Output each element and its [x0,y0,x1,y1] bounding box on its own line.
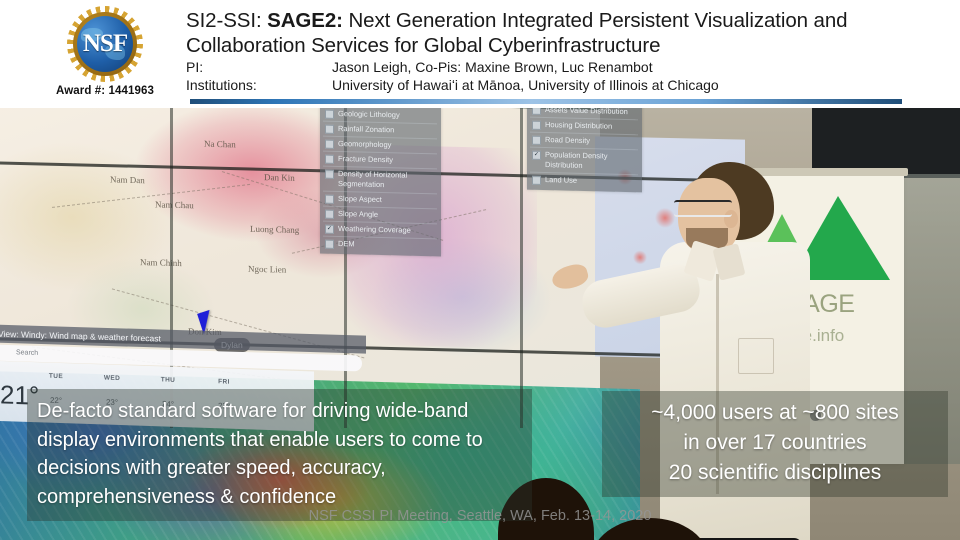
forecast-day: TUE [36,372,76,380]
checkbox-icon[interactable] [325,169,334,178]
footer-meeting-note: NSF CSSI PI Meeting, Seattle, WA, Feb. 1… [0,508,960,524]
presenter-glasses-icon [674,200,732,217]
layer-label: Geologic Lithology [338,109,400,121]
pi-row: PI: Jason Leigh, Co-Pis: Maxine Brown, L… [186,59,956,76]
shared-cursor-dylan[interactable]: Dylan [200,310,222,332]
layer-label: Rainfall Zonation [338,124,394,135]
slide-header: NSF Award #: 1441963 SI2-SSI: SAGE2: Nex… [0,0,960,108]
checkbox-icon-checked[interactable] [532,150,541,159]
layer-label: Density of Horizontal Segmentation [338,169,435,191]
forecast-day: FRI [204,378,244,386]
layer-label: Slope Aspect [338,194,382,205]
checkbox-icon[interactable] [532,135,541,144]
institutions-value: University of Hawaiʻi at Mānoa, Universi… [332,77,956,94]
page-title: SI2-SSI: SAGE2: Next Generation Integrat… [186,8,956,58]
list-item[interactable]: DEM [323,236,437,254]
map-place-label: Nam Dan [110,174,145,185]
slide-canvas: NSF Award #: 1441963 SI2-SSI: SAGE2: Nex… [0,0,960,540]
list-item[interactable]: Population Density Distribution [530,147,638,175]
map-place-label: Luong Chang [250,224,299,235]
layer-label: Slope Angle [338,209,378,220]
checkbox-icon[interactable] [325,239,334,248]
checkbox-icon[interactable] [532,108,541,114]
list-item[interactable]: Land Use [530,172,638,190]
header-text-block: SI2-SSI: SAGE2: Next Generation Integrat… [186,8,956,94]
checkbox-icon[interactable] [325,154,334,163]
checkbox-icon[interactable] [325,194,334,203]
header-divider [190,99,902,104]
presenter-shirt-pocket [738,338,774,374]
map-place-label: Nam Chinh [140,257,182,268]
checkbox-icon[interactable] [325,139,334,148]
caption-description: De-facto standard software for driving w… [27,389,532,521]
layer-label: Housing Distribution [545,120,612,132]
checkbox-icon[interactable] [325,109,334,118]
display-bezel-seam-vertical [520,108,523,428]
layer-label: Population Density Distribution [545,150,636,172]
title-project-name: SAGE2: [267,9,343,32]
list-item[interactable]: Density of Horizontal Segmentation [323,166,437,194]
stats-line-disciplines: 20 scientific disciplines [612,458,938,488]
layer-panel-socioeconomic[interactable]: Assets Value Distribution Housing Distri… [527,108,642,192]
map-place-label: Dan Kin [264,172,295,183]
layer-label: Fracture Density [338,154,393,165]
checkbox-icon-checked[interactable] [325,224,334,233]
checkbox-icon[interactable] [325,124,334,133]
layer-label: Assets Value Distribution [545,108,628,117]
pi-label: PI: [186,59,332,76]
institutions-row: Institutions: University of Hawaiʻi at M… [186,77,956,94]
layer-label: Weathering Coverage [338,224,411,236]
pi-value: Jason Leigh, Co-Pis: Maxine Brown, Luc R… [332,59,956,76]
checkbox-icon[interactable] [532,175,541,184]
layer-label: Land Use [545,175,577,186]
layer-label: Road Density [545,135,590,146]
checkbox-icon[interactable] [532,120,541,129]
map-place-label: Na Chan [204,139,236,150]
award-number-label: Award #: 1441963 [30,85,180,97]
map-place-label: Ngoc Lien [248,264,286,275]
nsf-wordmark: NSF [67,6,143,82]
map-place-label: Nam Chau [155,199,194,210]
stats-line-countries: in over 17 countries [612,428,938,458]
stats-line-users: ~4,000 users at ~800 sites [612,398,938,428]
checkbox-icon[interactable] [325,209,334,218]
layer-label: DEM [338,239,355,249]
forecast-day: WED [92,374,132,382]
title-prefix: SI2-SSI: [186,9,267,32]
nsf-logo-block: NSF Award #: 1441963 [30,4,180,97]
stats-callout: ~4,000 users at ~800 sites in over 17 co… [602,391,948,497]
forecast-day: THU [148,376,188,384]
nsf-seal-icon: NSF [67,6,143,82]
institutions-label: Institutions: [186,77,332,94]
layer-label: Geomorphology [338,139,391,150]
layer-panel-geology[interactable]: Geologic Lithology Rainfall Zonation Geo… [320,108,441,256]
